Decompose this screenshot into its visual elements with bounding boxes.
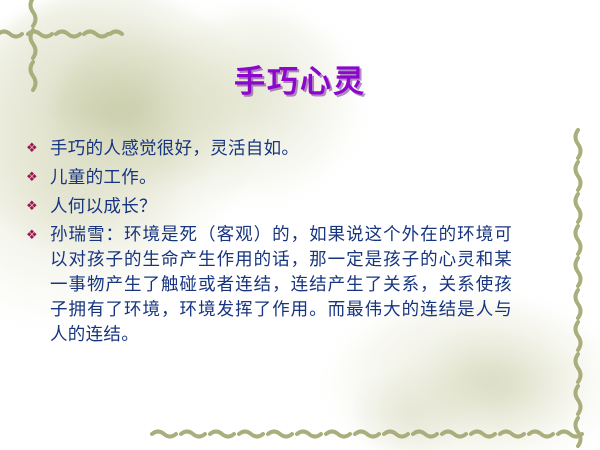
list-item: ❖ 手巧的人感觉很好，灵活自如。 bbox=[26, 136, 546, 162]
slide-title: 手巧心灵 bbox=[0, 56, 600, 101]
slide-body-bullet-list: ❖ 手巧的人感觉很好，灵活自如。 ❖ 儿童的工作。 ❖ 人何以成长？ ❖ 孙瑞雪… bbox=[26, 136, 546, 351]
list-item-text: 儿童的工作。 bbox=[50, 165, 546, 191]
list-item: ❖ 孙瑞雪：环境是死（客观）的，如果说这个外在的环境可以对孩子的生命产生作用的话… bbox=[26, 223, 546, 348]
diamond-bullet-icon: ❖ bbox=[26, 136, 50, 162]
list-item-text: 孙瑞雪：环境是死（客观）的，如果说这个外在的环境可以对孩子的生命产生作用的话，那… bbox=[50, 223, 546, 348]
right-vertical-wavy-rule-icon bbox=[563, 128, 593, 450]
list-item-text: 手巧的人感觉很好，灵活自如。 bbox=[50, 136, 546, 162]
top-left-horizontal-wavy-rule-icon bbox=[0, 18, 125, 48]
diamond-bullet-icon: ❖ bbox=[26, 194, 50, 220]
list-item: ❖ 儿童的工作。 bbox=[26, 165, 546, 191]
diamond-bullet-icon: ❖ bbox=[26, 165, 50, 191]
list-item-text: 人何以成长？ bbox=[50, 194, 546, 220]
leaf-watermark-background bbox=[350, 370, 470, 450]
diamond-bullet-icon: ❖ bbox=[26, 223, 50, 248]
bottom-horizontal-wavy-rule-icon bbox=[150, 418, 590, 448]
presentation-slide: 手巧心灵 ❖ 手巧的人感觉很好，灵活自如。 ❖ 儿童的工作。 ❖ 人何以成长？ … bbox=[0, 0, 600, 450]
list-item: ❖ 人何以成长？ bbox=[26, 194, 546, 220]
